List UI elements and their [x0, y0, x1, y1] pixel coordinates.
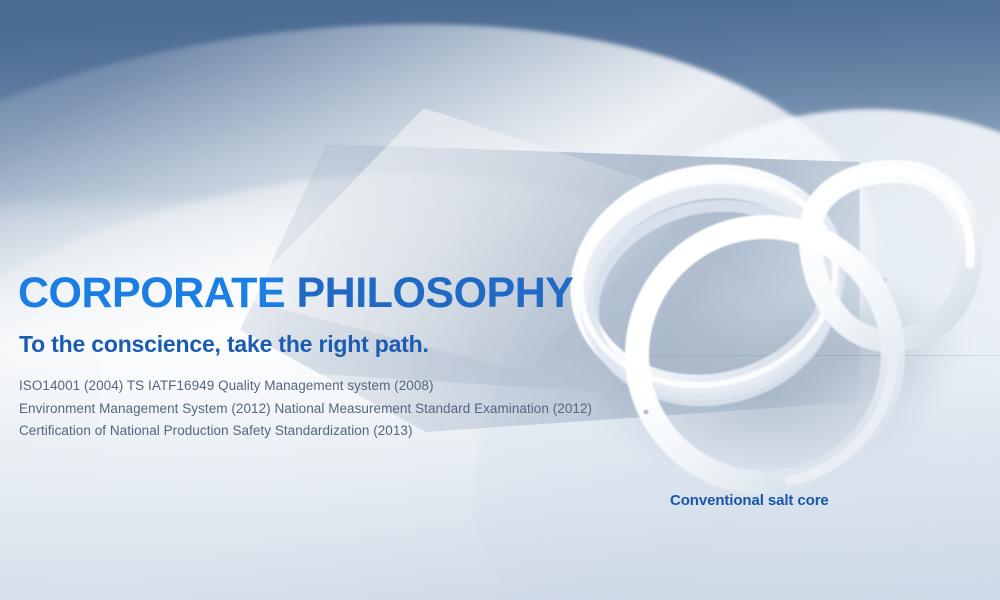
page-subtitle: To the conscience, take the right path.	[19, 333, 429, 356]
corporate-philosophy-banner: CORPORATE PHILOSOPHY To the conscience, …	[0, 0, 1000, 600]
salt-core-rings-image	[560, 140, 980, 500]
certification-line: Environment Management System (2012) Nat…	[19, 398, 659, 421]
certification-line: ISO14001 (2004) TS IATF16949 Quality Man…	[19, 375, 659, 398]
headline-word-primary: CORPORATE	[18, 269, 285, 317]
product-caption: Conventional salt core	[670, 492, 829, 509]
headline-word-secondary: PHILOSOPHY	[297, 269, 574, 317]
page-title: CORPORATE PHILOSOPHY	[18, 272, 573, 315]
certification-list: ISO14001 (2004) TS IATF16949 Quality Man…	[19, 375, 659, 443]
certification-line: Certification of National Production Saf…	[19, 420, 659, 443]
